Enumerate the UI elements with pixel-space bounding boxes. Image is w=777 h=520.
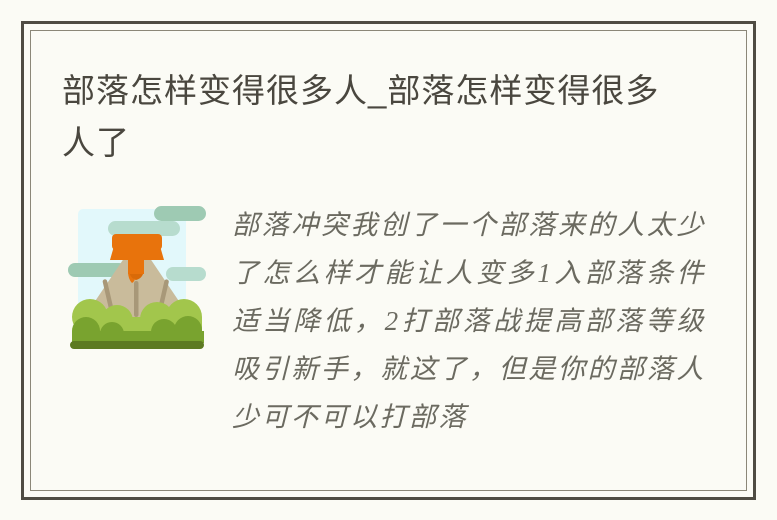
volcano-icon — [62, 201, 212, 356]
page-title: 部落怎样变得很多人_部落怎样变得很多人了 — [62, 65, 682, 169]
article-card-inner-border: 部落怎样变得很多人_部落怎样变得很多人了 — [30, 30, 747, 491]
article-body: 部落冲突我创了一个部落来的人太少了怎么样才能让人变多1入部落条件适当降低，2打部… — [232, 201, 706, 441]
article-card: 部落怎样变得很多人_部落怎样变得很多人了 — [21, 21, 756, 500]
article-content: 部落冲突我创了一个部落来的人太少了怎么样才能让人变多1入部落条件适当降低，2打部… — [31, 201, 746, 441]
article-thumbnail — [62, 201, 212, 356]
